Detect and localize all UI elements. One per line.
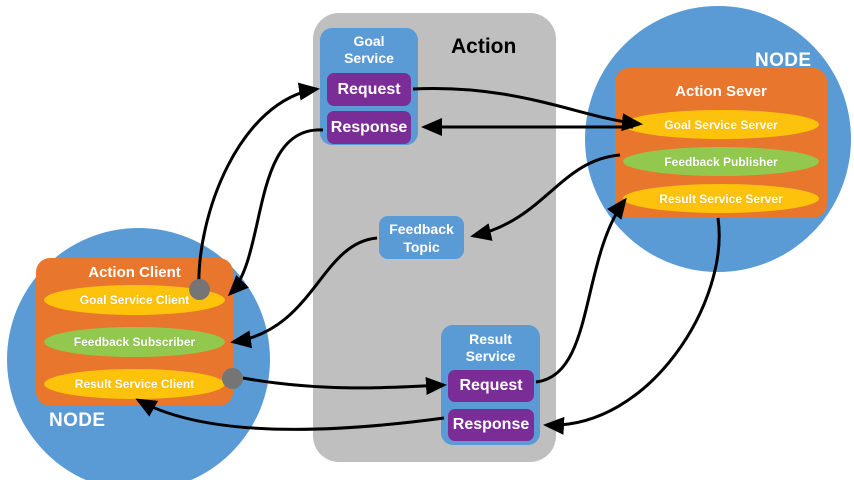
- diagram-canvas: Action Action Client Goal Service Client…: [0, 0, 854, 480]
- pill-feedback-publisher-label: Feedback Publisher: [664, 155, 777, 169]
- client-goal-connector-dot: [189, 279, 210, 300]
- arrow-response-to-goal-client: [230, 130, 323, 294]
- pill-goal-service-client-label: Goal Service Client: [80, 293, 189, 307]
- goal-service-title-line1: Goal: [320, 33, 418, 50]
- pill-feedback-publisher[interactable]: Feedback Publisher: [623, 147, 819, 176]
- pill-result-service-server[interactable]: Result Service Server: [623, 184, 819, 213]
- goal-service-request-label: Request: [337, 81, 400, 99]
- pill-result-service-client[interactable]: Result Service Client: [44, 369, 225, 399]
- feedback-topic-line2: Topic: [389, 238, 454, 256]
- result-service-title: Result Service: [441, 331, 540, 365]
- client-result-connector-dot: [222, 368, 243, 389]
- goal-service-response-label: Response: [331, 119, 407, 137]
- client-node-label: NODE: [49, 410, 106, 432]
- pill-feedback-subscriber-label: Feedback Subscriber: [74, 335, 195, 349]
- pill-result-service-client-label: Result Service Client: [75, 377, 194, 391]
- server-node-label: NODE: [755, 50, 812, 72]
- pill-goal-service-server-label: Goal Service Server: [664, 118, 777, 132]
- pill-goal-service-server[interactable]: Goal Service Server: [623, 110, 819, 139]
- action-server-title: Action Sever: [615, 83, 827, 100]
- result-service-request-label: Request: [459, 377, 522, 395]
- result-service-response[interactable]: Response: [448, 409, 534, 441]
- result-service-title-line1: Result: [441, 331, 540, 348]
- goal-service-title-line2: Service: [320, 50, 418, 67]
- feedback-topic-box[interactable]: Feedback Topic: [379, 216, 464, 259]
- goal-service-title: Goal Service: [320, 33, 418, 67]
- goal-service-response[interactable]: Response: [327, 111, 411, 144]
- goal-service-request[interactable]: Request: [327, 73, 411, 106]
- action-client-title: Action Client: [36, 264, 233, 281]
- action-group-label: Action: [451, 35, 516, 59]
- result-service-title-line2: Service: [441, 348, 540, 365]
- pill-feedback-subscriber[interactable]: Feedback Subscriber: [44, 327, 225, 357]
- result-service-request[interactable]: Request: [448, 370, 534, 402]
- result-service-response-label: Response: [453, 416, 529, 434]
- feedback-topic-line1: Feedback: [389, 220, 454, 238]
- pill-result-service-server-label: Result Service Server: [659, 192, 782, 206]
